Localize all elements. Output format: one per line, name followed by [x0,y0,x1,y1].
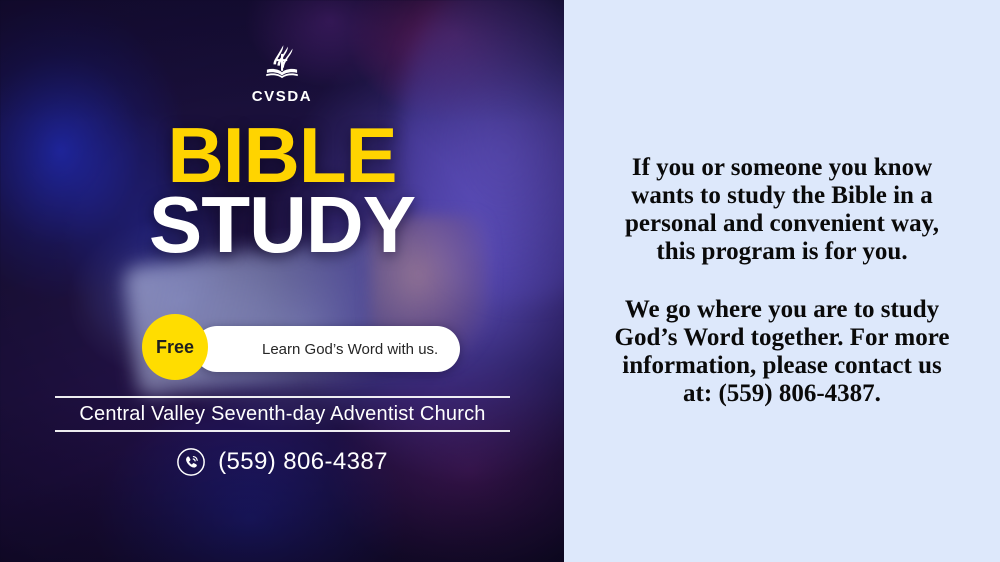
church-name: Central Valley Seventh-day Adventist Chu… [55,398,510,430]
info-text-container: If you or someone you know wants to stud… [612,154,952,408]
phone-number: (559) 806-4387 [218,448,388,476]
info-paragraph-1: If you or someone you know wants to stud… [612,154,952,266]
hero-panel: CVSDA BIBLE STUDY Learn God’s Word with … [0,0,564,562]
logo-abbreviation: CVSDA [0,88,564,105]
adventist-flame-logo-icon [261,42,303,84]
church-name-block: Central Valley Seventh-day Adventist Chu… [55,396,510,432]
free-badge: Free [142,314,208,380]
contact-phone-row[interactable]: (559) 806-4387 [0,447,564,477]
info-paragraph-2: We go where you are to study God’s Word … [612,296,952,408]
info-paragraph-spacer [612,266,952,296]
rule-bottom [55,430,510,432]
bible-study-flyer: CVSDA BIBLE STUDY Learn God’s Word with … [0,0,1000,562]
headline: BIBLE STUDY [0,122,564,260]
learn-pill-text: Learn God’s Word with us. [262,341,438,358]
info-panel: If you or someone you know wants to stud… [564,0,1000,562]
phone-icon [176,447,206,477]
free-badge-row: Learn God’s Word with us. Free [142,320,208,378]
hero-content: CVSDA BIBLE STUDY Learn God’s Word with … [0,0,564,562]
learn-pill: Learn God’s Word with us. [194,326,460,372]
headline-line-study: STUDY [0,191,564,260]
free-badge-label: Free [156,337,194,358]
logo-block: CVSDA [0,42,564,105]
